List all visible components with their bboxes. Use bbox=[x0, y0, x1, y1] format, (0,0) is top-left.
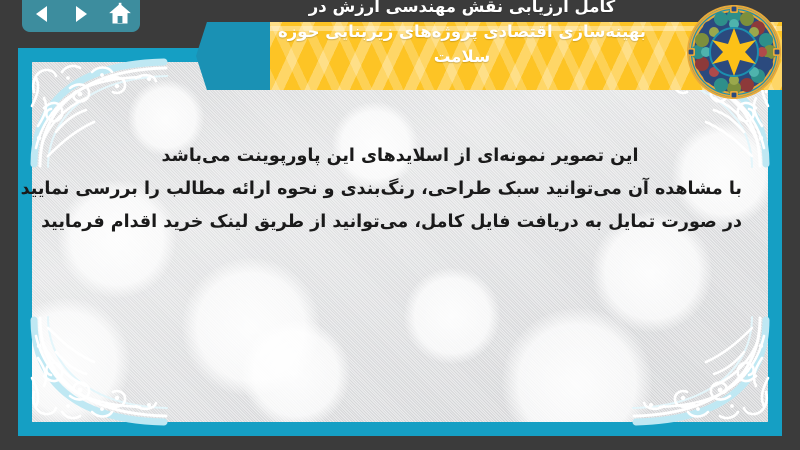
bokeh-blob bbox=[182, 258, 320, 396]
next-slide-button[interactable] bbox=[68, 1, 94, 27]
bokeh-blob bbox=[242, 320, 350, 422]
body-line-3: در صورت تمایل به دریافت فایل کامل، می‌تو… bbox=[58, 206, 742, 239]
bokeh-blob bbox=[502, 308, 652, 422]
navigation-toolbar bbox=[22, 0, 140, 32]
persian-medallion-ornament bbox=[686, 4, 782, 100]
page-title: کامل ارزیابی نقش مهندسی ارزش در بهینه‌سا… bbox=[220, 0, 704, 69]
bokeh-blob bbox=[32, 298, 130, 422]
slide-viewer: این تصویر نمونه‌ای از اسلایدهای این پاور… bbox=[0, 0, 800, 450]
body-line-1: این تصویر نمونه‌ای از اسلایدهای این پاور… bbox=[58, 140, 742, 173]
slide-content-panel bbox=[32, 62, 768, 422]
body-line-2: با مشاهده آن می‌توانید سبک طراحی، رنگ‌بن… bbox=[58, 173, 742, 206]
bokeh-blob bbox=[404, 268, 500, 364]
home-icon bbox=[108, 2, 132, 26]
slide-body-text: این تصویر نمونه‌ای از اسلایدهای این پاور… bbox=[58, 140, 742, 239]
triangle-left-icon bbox=[31, 3, 53, 25]
home-button[interactable] bbox=[107, 1, 133, 27]
slide-frame: این تصویر نمونه‌ای از اسلایدهای این پاور… bbox=[18, 48, 782, 436]
previous-slide-button[interactable] bbox=[29, 1, 55, 27]
triangle-right-icon bbox=[70, 3, 92, 25]
